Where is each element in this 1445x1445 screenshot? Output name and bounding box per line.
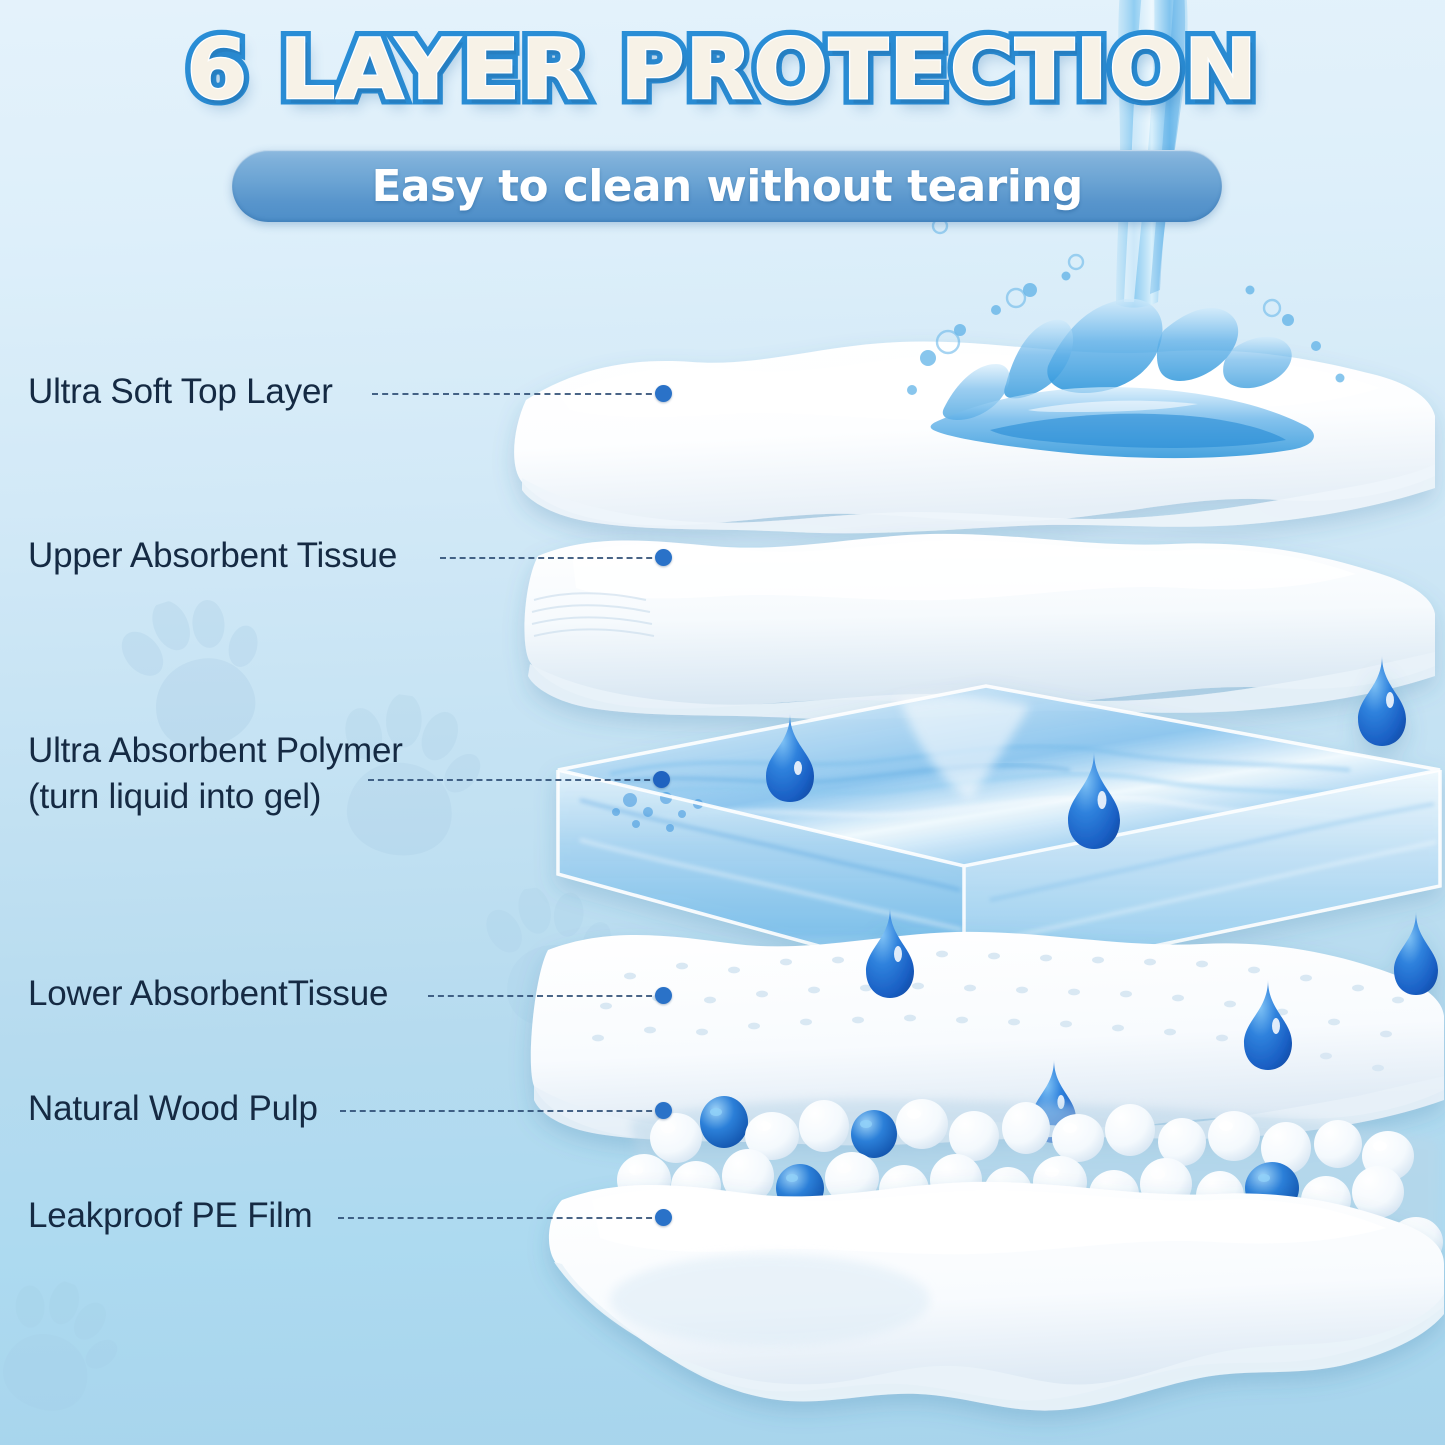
leader-line-upper-absorbent-tissue xyxy=(440,557,662,559)
leader-dot-leakproof-pe-film xyxy=(655,1209,672,1226)
label-lower-absorbent-tissue: Lower AbsorbentTissue xyxy=(28,974,388,1014)
leader-line-natural-wood-pulp xyxy=(340,1110,662,1112)
leader-line-lower-absorbent-tissue xyxy=(428,995,662,997)
label-natural-wood-pulp: Natural Wood Pulp xyxy=(28,1089,318,1129)
label-text: Lower AbsorbentTissue xyxy=(28,974,388,1013)
label-upper-absorbent-tissue: Upper Absorbent Tissue xyxy=(28,536,397,576)
label-text: Ultra Soft Top Layer xyxy=(28,372,333,411)
layer-stack-illustration xyxy=(430,300,1445,1445)
leader-line-leakproof-pe-film xyxy=(338,1217,662,1219)
label-text: Leakproof PE Film xyxy=(28,1196,313,1235)
label-leakproof-pe-film: Leakproof PE Film xyxy=(28,1196,313,1236)
label-ultra-soft-top-layer: Ultra Soft Top Layer xyxy=(28,372,333,412)
leader-dot-ultra-absorbent-polymer xyxy=(653,771,670,788)
page-title: 6 LAYER PROTECTION xyxy=(187,28,1259,113)
subtitle-text: Easy to clean without tearing xyxy=(371,161,1082,212)
label-text: Natural Wood Pulp xyxy=(28,1089,318,1128)
paw-print-icon xyxy=(0,1264,138,1435)
label-ultra-absorbent-polymer: Ultra Absorbent Polymer (turn liquid int… xyxy=(28,728,498,820)
label-text: Ultra Absorbent Polymer xyxy=(28,728,498,774)
leader-dot-ultra-soft-top-layer xyxy=(655,385,672,402)
infographic-canvas: 6 LAYER PROTECTION 6 LAYER PROTECTION Ea… xyxy=(0,0,1445,1445)
layer-ultra-soft-top xyxy=(514,341,1435,533)
leader-line-ultra-soft-top-layer xyxy=(372,393,662,395)
label-text: Upper Absorbent Tissue xyxy=(28,536,397,575)
label-subtext: (turn liquid into gel) xyxy=(28,774,498,820)
leader-dot-natural-wood-pulp xyxy=(655,1102,672,1119)
leader-dot-upper-absorbent-tissue xyxy=(655,549,672,566)
leader-dot-lower-absorbent-tissue xyxy=(655,987,672,1004)
layer-leakproof-pe-film xyxy=(549,1182,1444,1411)
page-title-wrap: 6 LAYER PROTECTION xyxy=(0,28,1445,113)
subtitle-banner: Easy to clean without tearing xyxy=(232,150,1222,222)
